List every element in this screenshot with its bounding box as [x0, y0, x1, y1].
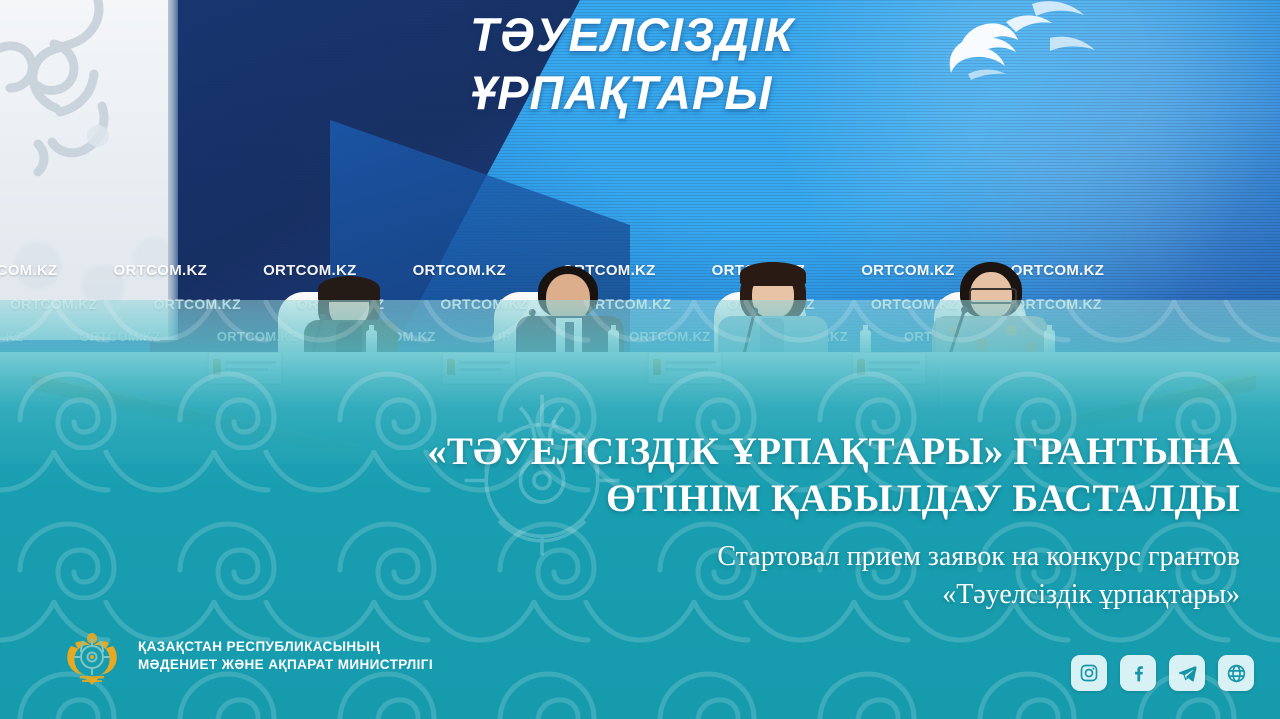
instagram-icon[interactable] — [1071, 655, 1107, 691]
social-links[interactable] — [1071, 655, 1254, 691]
news-graphic-canvas: ТӘУЕЛСІЗДІК ҰРПАҚТАРЫ — [0, 0, 1280, 719]
headline-line-1: «ТӘУЕЛСІЗДІК ҰРПАҚТАРЫ» ГРАНТЫНА — [60, 428, 1240, 475]
facebook-icon[interactable] — [1120, 655, 1156, 691]
telegram-icon[interactable] — [1169, 655, 1205, 691]
ministry-lockup: ҚАЗАҚСТАН РЕСПУБЛИКАСЫНЫҢ МӘДЕНИЕТ ЖӘНЕ … — [62, 626, 433, 686]
wall-relief-ornament-icon — [0, 0, 180, 218]
subtitle: Стартовал прием заявок на конкурс гранто… — [60, 538, 1240, 614]
headline: «ТӘУЕЛСІЗДІК ҰРПАҚТАРЫ» ГРАНТЫНА ӨТІНІМ … — [60, 428, 1240, 522]
eagle-icon — [910, 0, 1110, 108]
kazakhstan-state-emblem-icon — [62, 626, 122, 686]
subtitle-line-1: Стартовал прием заявок на конкурс гранто… — [60, 538, 1240, 576]
headline-line-2: ӨТІНІМ ҚАБЫЛДАУ БАСТАЛДЫ — [60, 475, 1240, 522]
subtitle-line-2: «Тәуелсіздік ұрпақтары» — [60, 576, 1240, 614]
ministry-name: ҚАЗАҚСТАН РЕСПУБЛИКАСЫНЫҢ МӘДЕНИЕТ ЖӘНЕ … — [138, 638, 433, 674]
ministry-line-2: МӘДЕНИЕТ ЖӘНЕ АҚПАРАТ МИНИСТРЛІГІ — [138, 656, 433, 674]
website-icon[interactable] — [1218, 655, 1254, 691]
ministry-line-1: ҚАЗАҚСТАН РЕСПУБЛИКАСЫНЫҢ — [138, 638, 433, 656]
ortcom-row: ORTCOM.KZ ORTCOM.KZ ORTCOM.KZ ORTCOM.KZ … — [0, 262, 1280, 279]
stage-banner: ТӘУЕЛСІЗДІК ҰРПАҚТАРЫ — [470, 6, 1130, 136]
